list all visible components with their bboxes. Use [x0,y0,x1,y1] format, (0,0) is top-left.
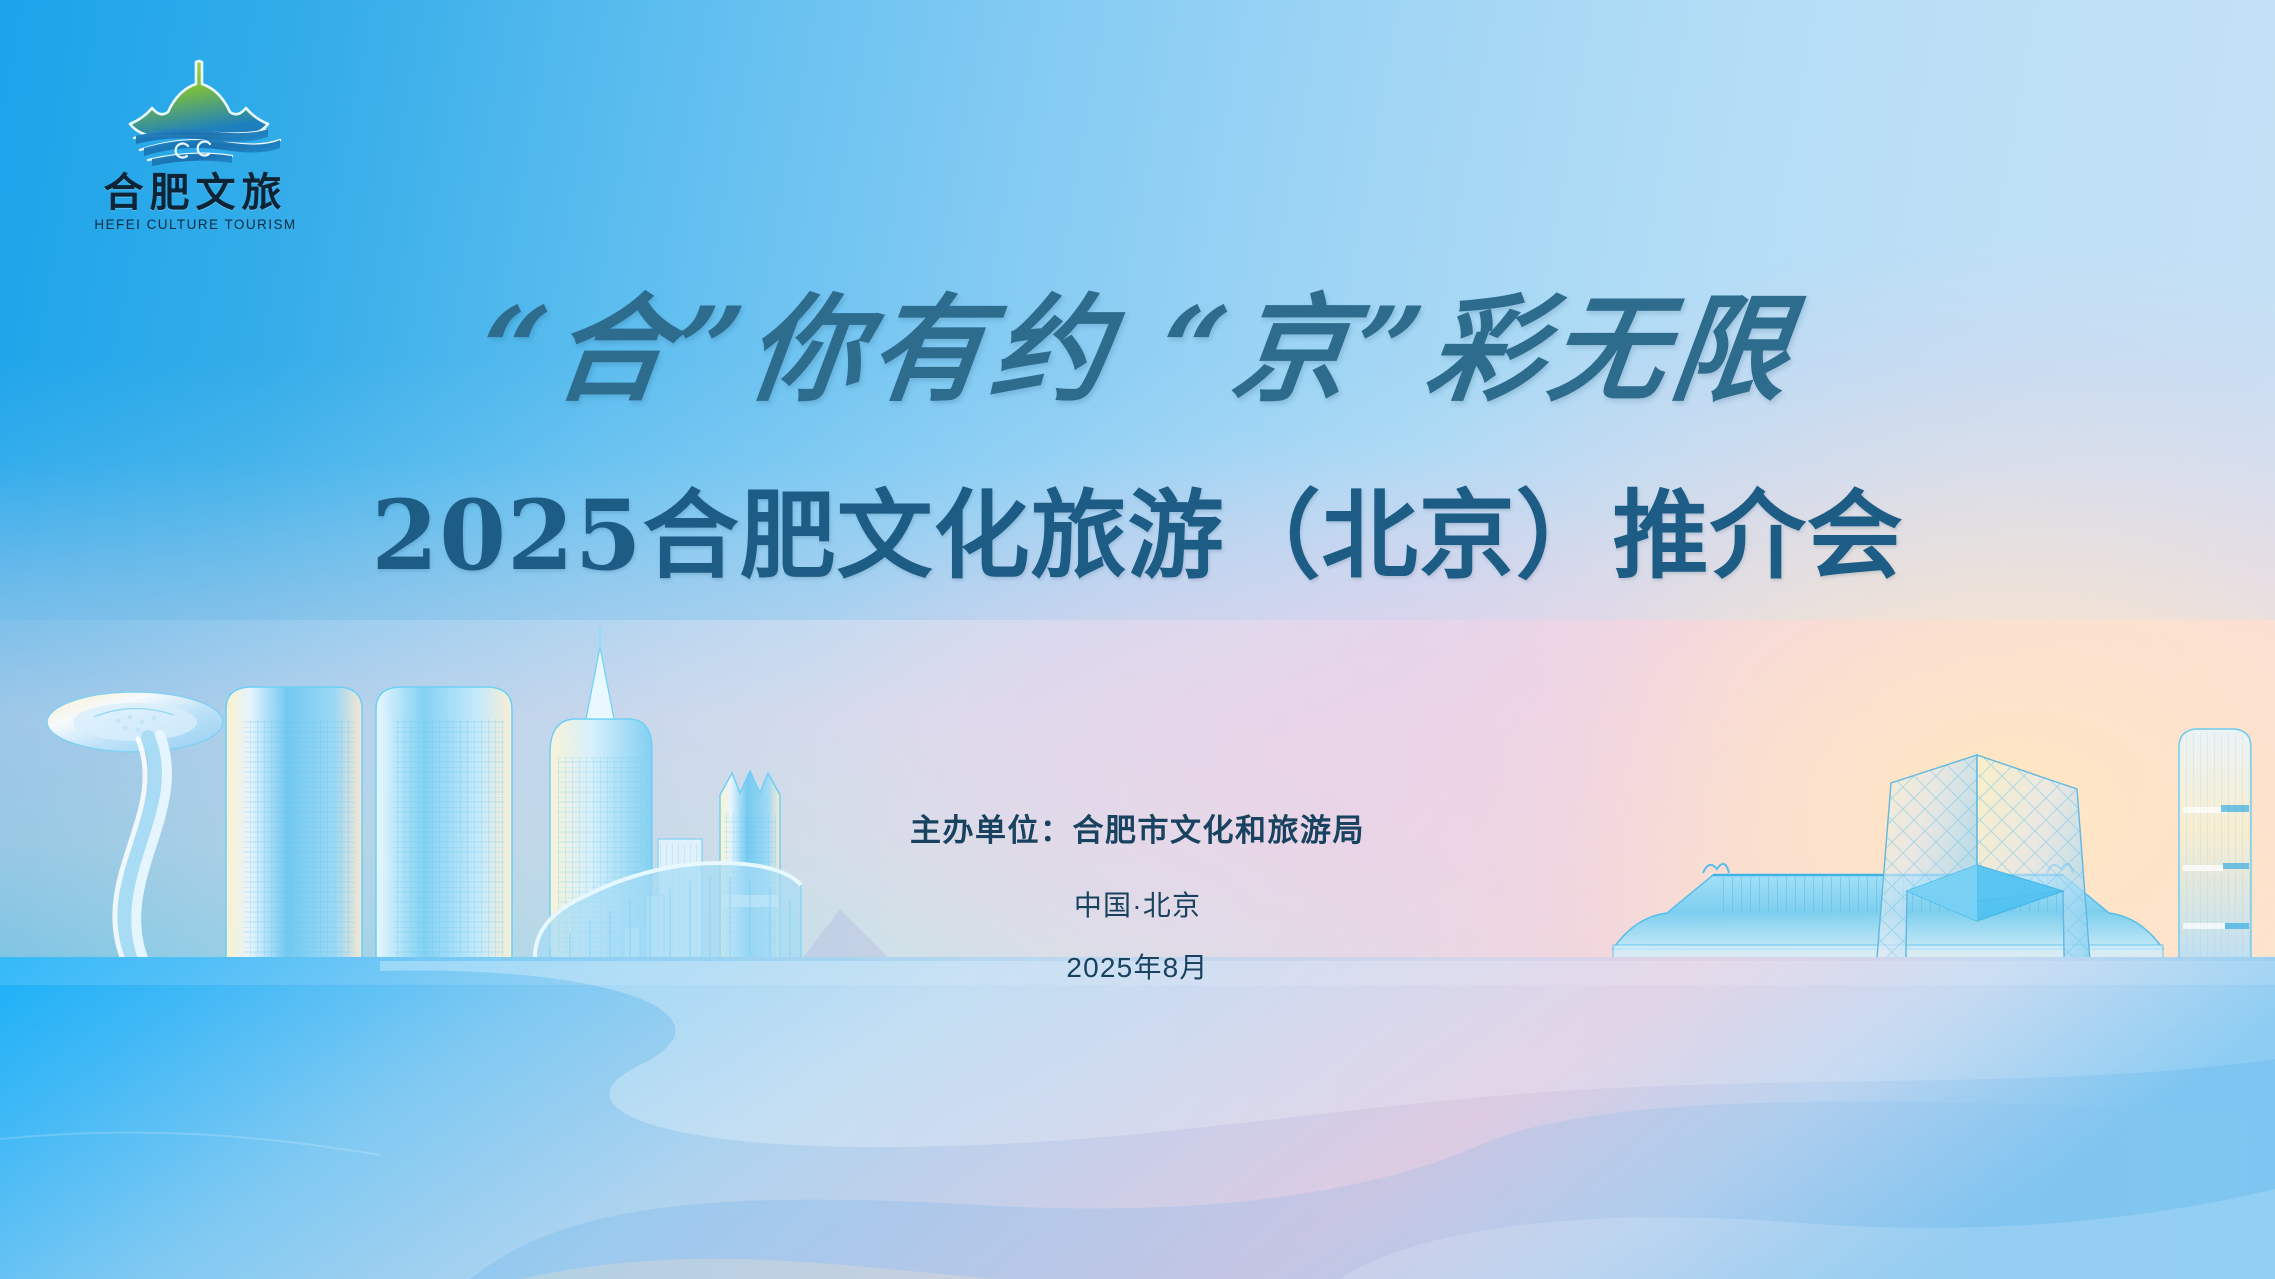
logo-name-en: HEFEI CULTURE TOURISM [88,217,303,232]
water-waves-icon [0,939,2275,1279]
place-line: 中国·北京 [0,884,2275,924]
poster-canvas: 合肥文旅 HEFEI CULTURE TOURISM “合”你有约 “京”彩无限… [0,0,2275,1279]
poster-subheadline: 2025合肥文化旅游（北京）推介会 [0,478,2275,593]
poster-headline: “合”你有约 “京”彩无限 [0,282,2275,419]
poster-credits: 主办单位：合肥市文化和旅游局 中国·北京 2025年8月 [0,805,2275,986]
mountain-river-pagoda-icon [88,58,303,170]
logo-name-cn: 合肥文旅 [88,172,303,214]
date-line: 2025年8月 [0,946,2275,986]
organizer-line: 主办单位：合肥市文化和旅游局 [0,805,2275,850]
hefei-culture-tourism-logo[interactable]: 合肥文旅 HEFEI CULTURE TOURISM [88,58,303,232]
